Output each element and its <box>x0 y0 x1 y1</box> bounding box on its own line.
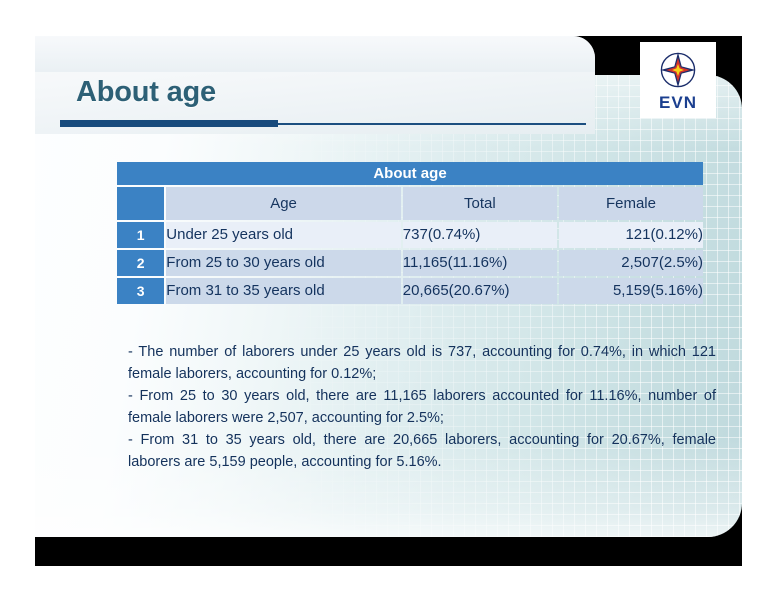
column-header-total: Total <box>403 187 557 220</box>
table-row: 2 From 25 to 30 years old 11,165(11.16%)… <box>117 250 703 276</box>
table-caption: About age <box>117 162 703 185</box>
cell-total: 737(0.74%) <box>403 222 557 248</box>
evn-logo: EVN <box>640 42 716 118</box>
row-index: 2 <box>117 250 164 276</box>
page-title: About age <box>76 76 216 109</box>
body-paragraph-3: - From 31 to 35 years old, there are 20,… <box>128 429 716 473</box>
cell-total: 11,165(11.16%) <box>403 250 557 276</box>
title-rule-thick <box>60 120 278 127</box>
row-index: 3 <box>117 278 164 304</box>
cell-age: From 31 to 35 years old <box>166 278 401 304</box>
column-header-female: Female <box>559 187 703 220</box>
table-header-row: Age Total Female <box>117 187 703 220</box>
cell-age: From 25 to 30 years old <box>166 250 401 276</box>
cell-female: 121(0.12%) <box>559 222 703 248</box>
about-age-table: About age Age Total Female 1 Under 25 ye… <box>115 160 705 306</box>
cell-female: 2,507(2.5%) <box>559 250 703 276</box>
body-paragraph-2: - From 25 to 30 years old, there are 11,… <box>128 385 716 429</box>
evn-four-point-star-logo <box>655 47 701 93</box>
body-text-block: - The number of laborers under 25 years … <box>128 341 716 473</box>
cell-total: 20,665(20.67%) <box>403 278 557 304</box>
slide-root: About age EVN About age Age Total Female <box>0 0 776 600</box>
table-row: 1 Under 25 years old 737(0.74%) 121(0.12… <box>117 222 703 248</box>
table-caption-row: About age <box>117 162 703 185</box>
row-index: 1 <box>117 222 164 248</box>
cell-female: 5,159(5.16%) <box>559 278 703 304</box>
title-rule-thin <box>278 123 586 125</box>
column-header-index <box>117 187 164 220</box>
cell-age: Under 25 years old <box>166 222 401 248</box>
slide-header-sheen <box>35 36 595 72</box>
column-header-age: Age <box>166 187 401 220</box>
table-row: 3 From 31 to 35 years old 20,665(20.67%)… <box>117 278 703 304</box>
body-paragraph-1: - The number of laborers under 25 years … <box>128 341 716 385</box>
evn-wordmark: EVN <box>659 93 697 113</box>
